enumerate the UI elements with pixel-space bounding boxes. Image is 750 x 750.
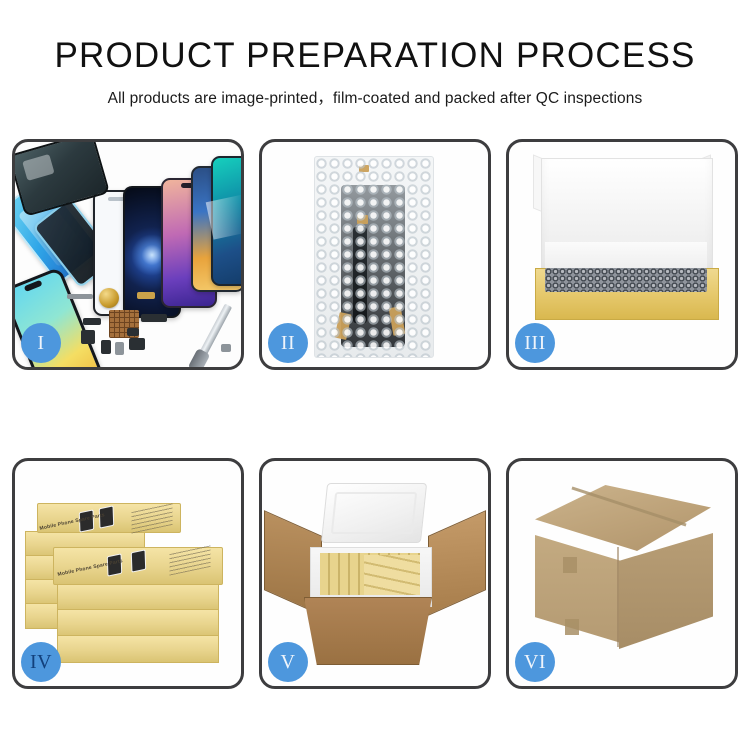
process-step-6: VI bbox=[506, 458, 738, 689]
carton-top-face-icon bbox=[535, 485, 711, 551]
part-gold-flex-icon bbox=[137, 292, 155, 299]
process-step-4: Mobile Phone Spare Parts Mobile Phone Sp… bbox=[12, 458, 244, 689]
process-step-2: II bbox=[259, 139, 491, 370]
part-sim-tray-icon bbox=[115, 342, 124, 355]
bubble-wrap-bag-icon bbox=[314, 156, 434, 358]
stacked-box bbox=[57, 609, 219, 637]
product-preparation-infographic: PRODUCT PREPARATION PROCESS All products… bbox=[0, 0, 750, 750]
step-4-badge: IV bbox=[21, 642, 61, 682]
page-subtitle: All products are image-printed，film-coat… bbox=[0, 86, 750, 108]
part-screws-icon bbox=[221, 344, 231, 352]
foam-padding-icon bbox=[545, 268, 707, 292]
step-2-badge: II bbox=[268, 323, 308, 363]
stacked-box bbox=[57, 635, 219, 663]
step-5-badge: V bbox=[268, 642, 308, 682]
part-camera-icon bbox=[101, 340, 111, 354]
phone-display-teal-icon bbox=[211, 156, 241, 286]
carton-right-face-icon bbox=[619, 533, 713, 649]
stacked-box bbox=[57, 583, 219, 611]
process-step-5: V bbox=[259, 458, 491, 689]
carton-front-panel-icon bbox=[304, 597, 432, 665]
process-step-1: I bbox=[12, 139, 244, 370]
step-3-badge: III bbox=[515, 323, 555, 363]
part-speaker-mesh-icon bbox=[67, 294, 93, 299]
process-step-grid: I II bbox=[12, 139, 738, 689]
step-1-badge: I bbox=[21, 323, 61, 363]
page-title: PRODUCT PREPARATION PROCESS bbox=[0, 38, 750, 73]
part-button-icon bbox=[127, 328, 139, 336]
part-bracket-icon bbox=[129, 338, 145, 350]
carton-corner-edge-icon bbox=[617, 547, 619, 647]
vibration-coil-icon bbox=[99, 288, 119, 308]
boxes-row-b-icon bbox=[364, 555, 420, 595]
part-flex-cable-icon bbox=[141, 314, 167, 322]
step-6-badge: VI bbox=[515, 642, 555, 682]
part-connector-a-icon bbox=[83, 318, 101, 325]
carton-contents-icon bbox=[320, 553, 420, 595]
carton-tape-upper-icon bbox=[563, 557, 577, 573]
bubble-texture-icon bbox=[315, 157, 433, 357]
part-connector-b-icon bbox=[81, 330, 95, 344]
header: PRODUCT PREPARATION PROCESS All products… bbox=[0, 0, 750, 108]
process-step-3: III bbox=[506, 139, 738, 370]
carton-flap-right-icon bbox=[428, 510, 486, 616]
box-thumb-b-front-icon bbox=[131, 549, 146, 572]
foam-cooler-lid-icon bbox=[321, 483, 427, 543]
carton-tape-lower-icon bbox=[565, 619, 579, 635]
